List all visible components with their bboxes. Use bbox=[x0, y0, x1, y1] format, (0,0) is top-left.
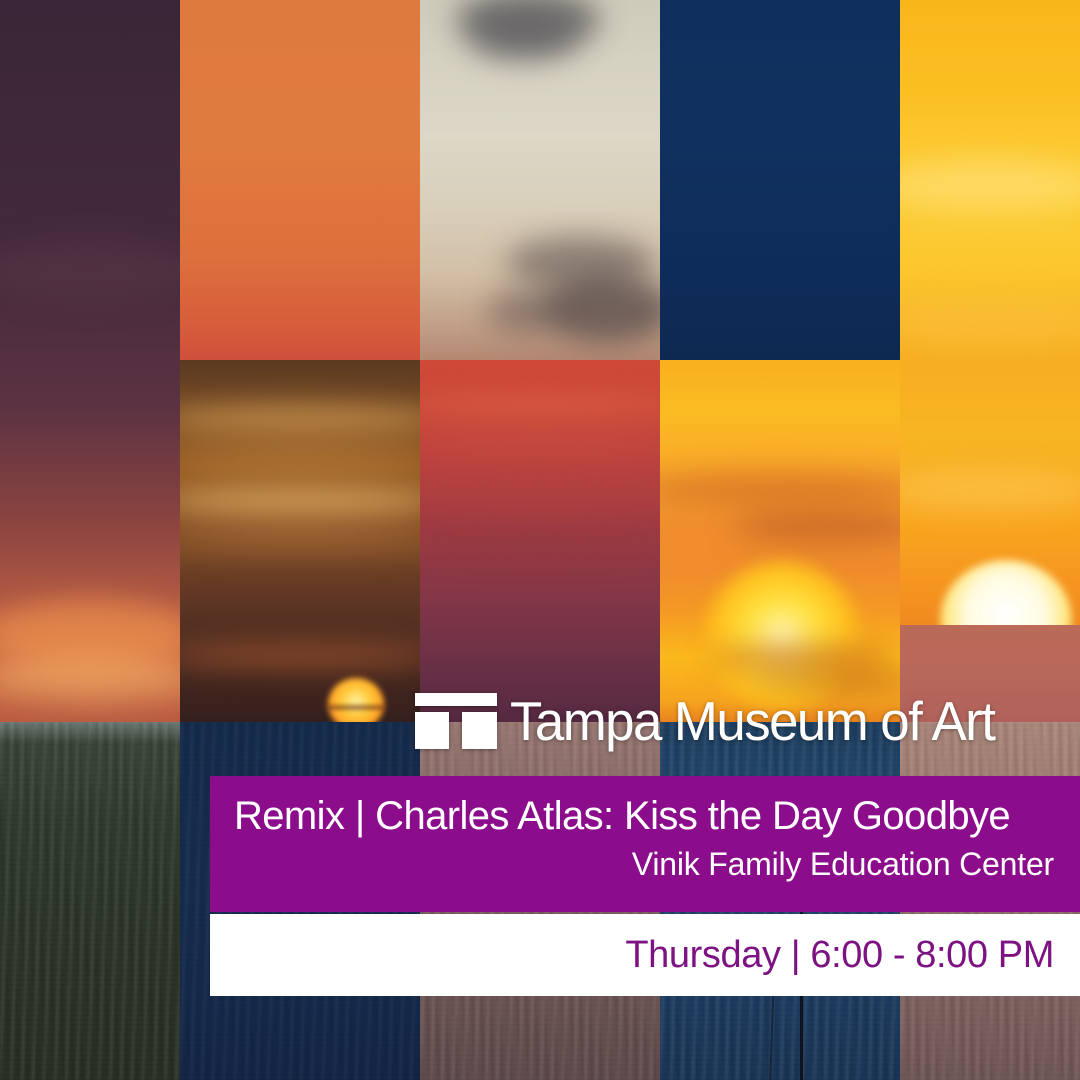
logo-wordmark: Tampa Museum of Art bbox=[510, 693, 994, 749]
event-venue: Vinik Family Education Center bbox=[234, 842, 1054, 886]
sun-c2 bbox=[328, 678, 384, 722]
mark-left-block bbox=[415, 712, 449, 749]
event-banner-purple: Remix | Charles Atlas: Kiss the Day Good… bbox=[210, 776, 1080, 912]
sea-texture bbox=[0, 722, 180, 1080]
event-time: Thursday | 6:00 - 8:00 PM bbox=[625, 933, 1054, 977]
tile-c1-bottom bbox=[0, 722, 180, 1080]
tile-c3-mid bbox=[420, 360, 660, 722]
mark-right-block bbox=[462, 712, 497, 749]
tile-c2-mid bbox=[180, 360, 420, 722]
event-title: Remix | Charles Atlas: Kiss the Day Good… bbox=[234, 790, 1054, 842]
poster-canvas: Tampa Museum of Art Remix | Charles Atla… bbox=[0, 0, 1080, 1080]
tile-c1-top bbox=[0, 0, 180, 722]
event-banner-white: Thursday | 6:00 - 8:00 PM bbox=[210, 914, 1080, 996]
tile-c5-top bbox=[900, 0, 1080, 625]
tile-c3-top bbox=[420, 0, 660, 360]
tile-c4-top bbox=[660, 0, 900, 360]
museum-mark-icon bbox=[415, 693, 497, 749]
tile-c2-top bbox=[180, 0, 420, 360]
mark-top-bar bbox=[415, 693, 497, 706]
tile-c4-mid bbox=[660, 360, 900, 722]
tampa-museum-of-art-logo: Tampa Museum of Art bbox=[415, 690, 1015, 752]
